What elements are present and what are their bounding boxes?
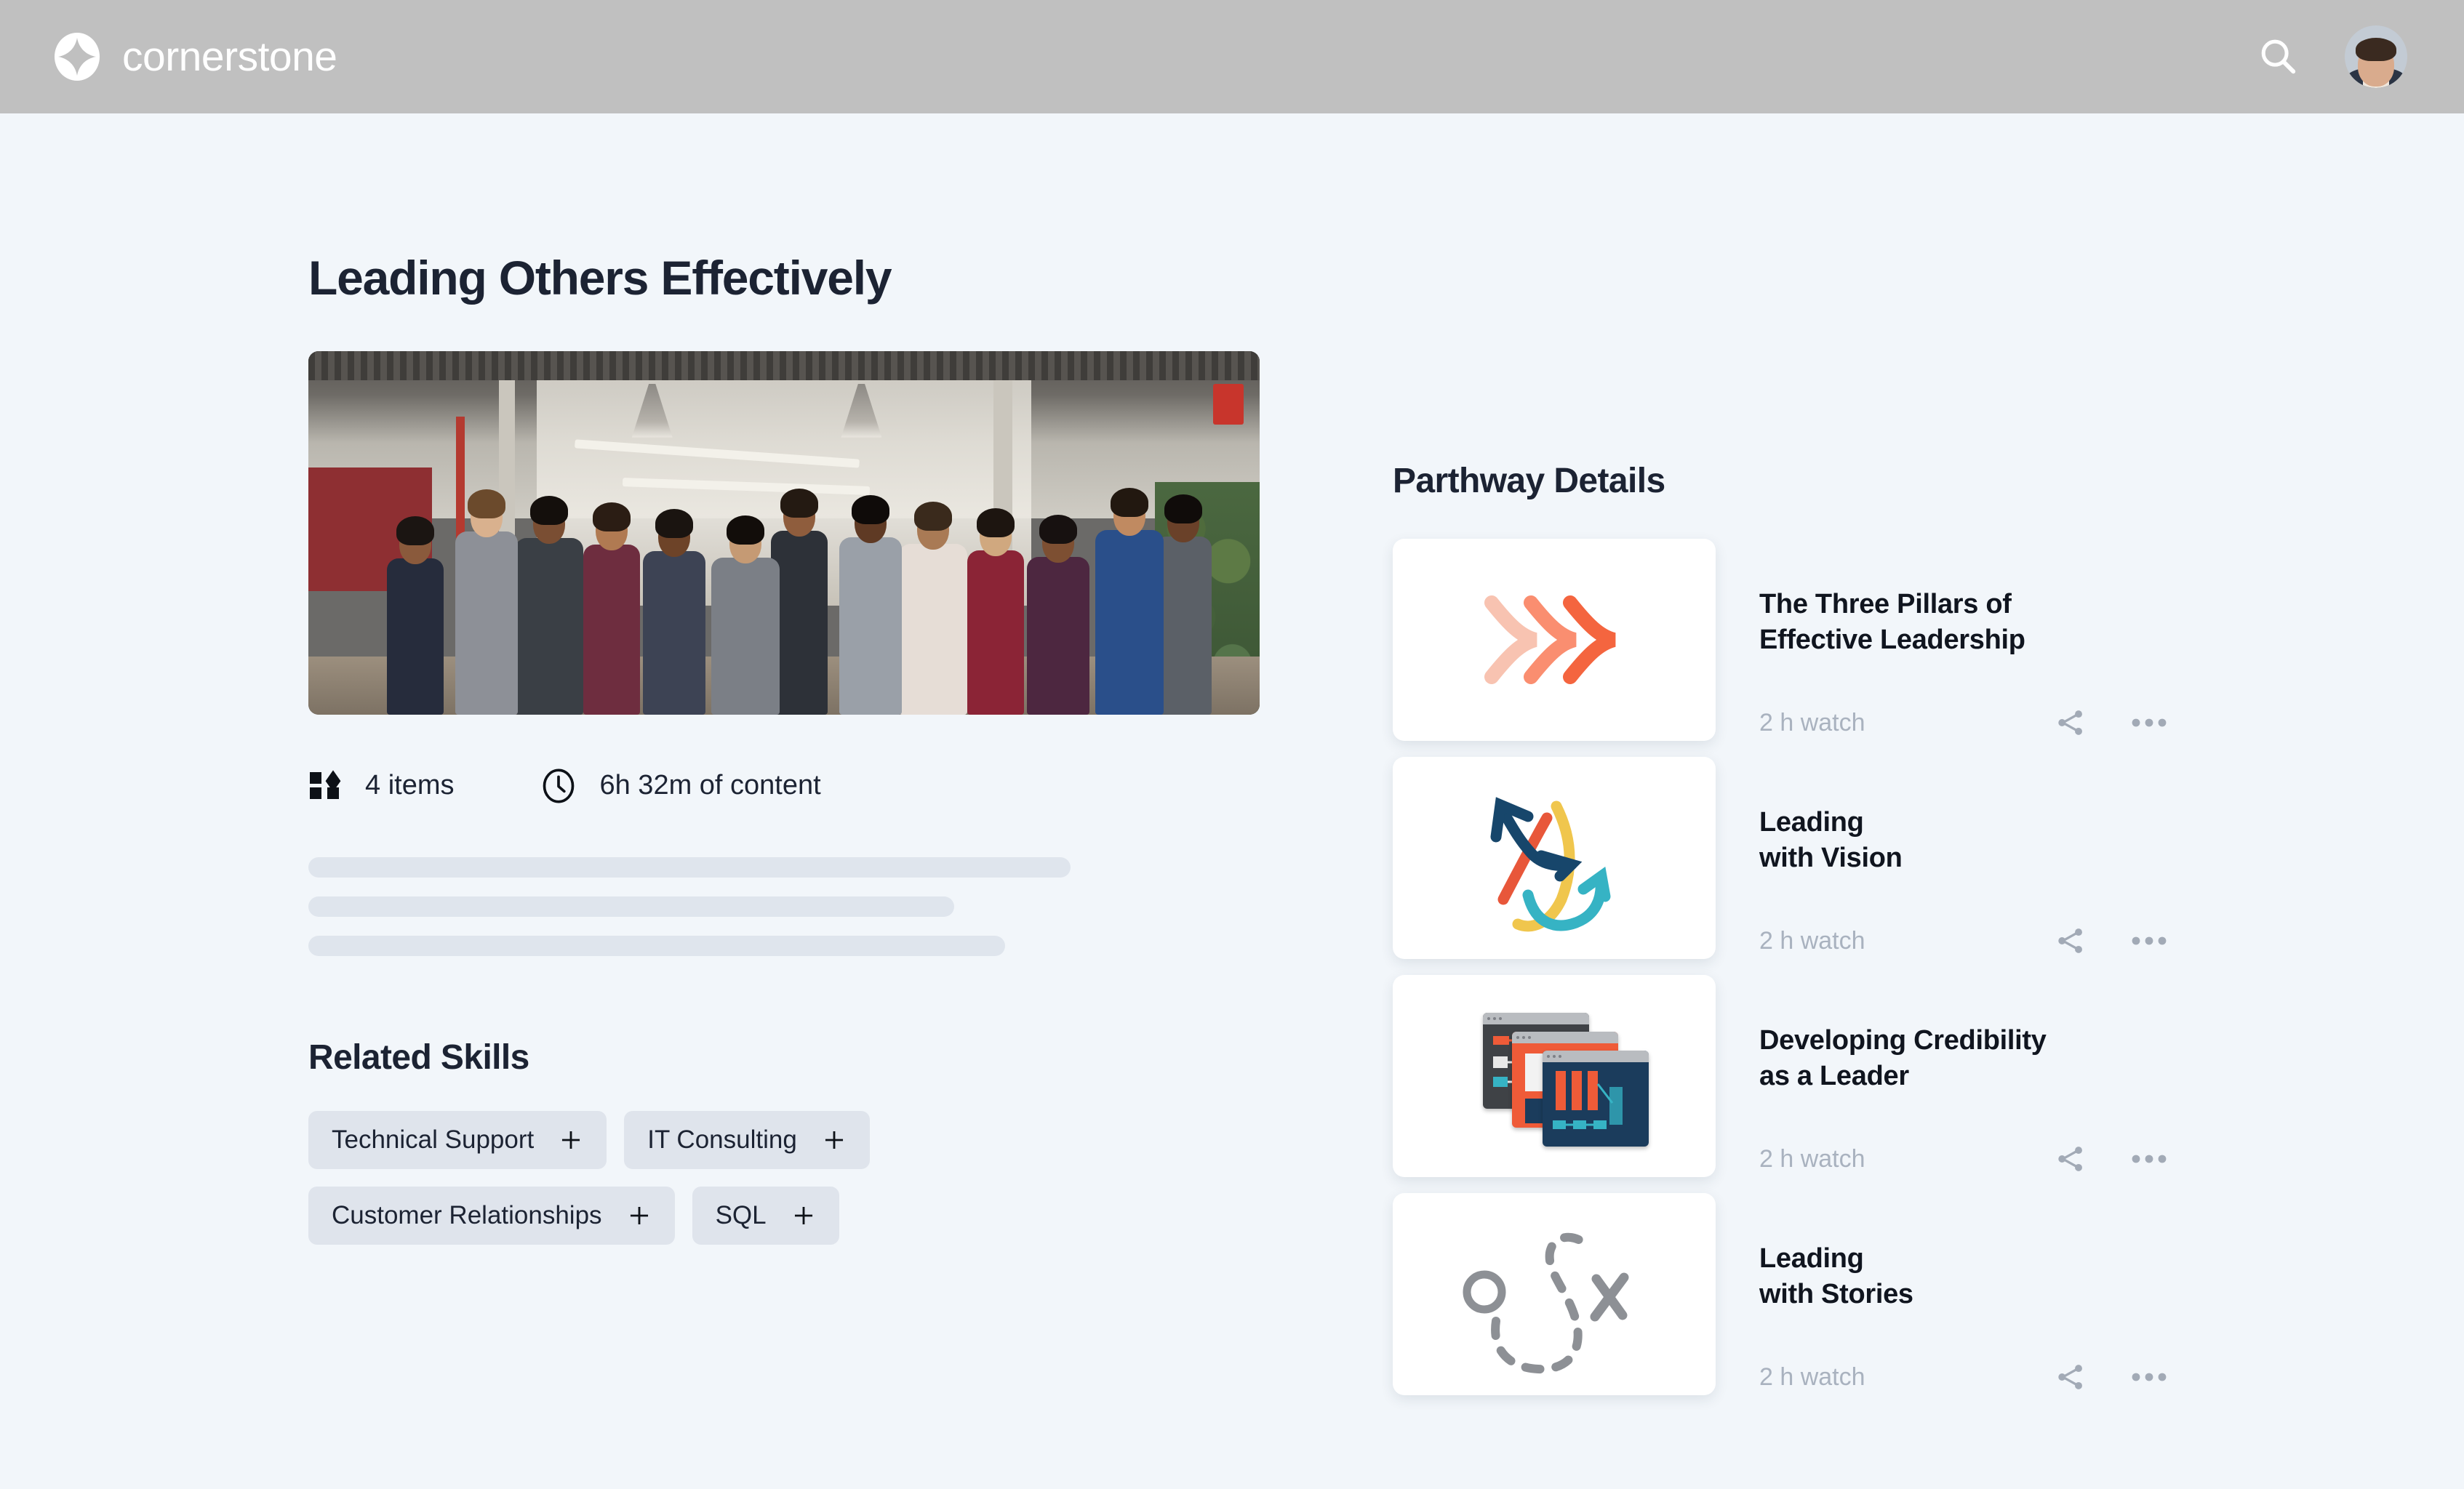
window-titlebar <box>1543 1051 1649 1062</box>
window-chart <box>1543 1062 1649 1147</box>
hero-ceiling-beam <box>308 351 1260 380</box>
pathway-item-body: Developing Credibility as a Leader 2 h w… <box>1759 975 2193 1175</box>
window-titlebar <box>1483 1013 1589 1024</box>
share-icon[interactable] <box>2055 707 2087 739</box>
interlocking-arrows-icon <box>1393 757 1716 959</box>
pathway-item-actions <box>2055 707 2167 739</box>
items-meta: 4 items <box>308 768 454 803</box>
pathway-item: The Three Pillars of Effective Leadershi… <box>1393 539 2193 741</box>
hero-person-hair <box>530 496 568 525</box>
hero-person-hair <box>593 502 631 531</box>
pathway-item-footer: 2 h watch <box>1759 1143 2167 1175</box>
plus-icon[interactable] <box>627 1203 652 1228</box>
hero-person-hair <box>1111 488 1148 517</box>
hero-person-hair <box>852 495 889 524</box>
items-count-label: 4 items <box>365 770 454 801</box>
pathway-item-actions <box>2055 1361 2167 1393</box>
hero-person-hair <box>780 489 818 518</box>
skeleton-bar <box>308 936 1005 956</box>
hero-person-hair <box>914 502 952 531</box>
pathway-item-body: Leading with Stories 2 h watch <box>1759 1193 2193 1393</box>
page-title: Leading Others Effectively <box>308 252 1268 305</box>
avatar[interactable] <box>2345 25 2407 88</box>
skill-chip-label: Customer Relationships <box>332 1201 602 1230</box>
left-column: Leading Others Effectively <box>308 113 1268 1245</box>
pathway-item-body: Leading with Vision 2 h watch <box>1759 757 2193 957</box>
window-front <box>1543 1051 1649 1147</box>
skill-chip-label: Technical Support <box>332 1125 534 1155</box>
hero-person-hair <box>1164 494 1202 523</box>
share-icon[interactable] <box>2055 1143 2087 1175</box>
plus-icon[interactable] <box>822 1128 847 1152</box>
skeleton-bar <box>308 857 1071 878</box>
share-icon[interactable] <box>2055 925 2087 957</box>
hero-person <box>387 558 444 715</box>
cornerstone-star-logo-icon <box>52 32 102 81</box>
hero-person-hair <box>655 509 693 538</box>
hero-person-hair <box>468 489 505 518</box>
pathway-item-list: The Three Pillars of Effective Leadershi… <box>1393 539 2193 1395</box>
hero-person <box>643 551 705 715</box>
hero-person <box>455 531 518 715</box>
hero-person-hair <box>977 508 1015 537</box>
skill-chip-label: IT Consulting <box>647 1125 797 1155</box>
more-options-icon[interactable] <box>2132 717 2167 729</box>
pathway-item-title: Leading with Stories <box>1759 1241 2193 1312</box>
pathway-details-title: Parthway Details <box>1393 461 2193 501</box>
duration-label: 6h 32m of content <box>599 770 820 801</box>
more-options-icon[interactable] <box>2132 935 2167 947</box>
skill-chip-sql[interactable]: SQL <box>692 1187 839 1245</box>
pathway-thumbnail[interactable] <box>1393 757 1716 959</box>
hero-person <box>839 537 902 715</box>
pathway-item: Leading with Stories 2 h watch <box>1393 1193 2193 1395</box>
share-icon[interactable] <box>2055 1361 2087 1393</box>
pathway-item-actions <box>2055 925 2167 957</box>
hero-people-group <box>308 467 1260 715</box>
hero-person <box>899 544 967 715</box>
skill-chip-customer-relationships[interactable]: Customer Relationships <box>308 1187 675 1245</box>
related-skills-title: Related Skills <box>308 1038 1268 1077</box>
three-coral-chevrons-icon <box>1393 539 1716 741</box>
pathway-item-footer: 2 h watch <box>1759 925 2167 957</box>
window-titlebar <box>1512 1032 1618 1043</box>
pathway-item-footer: 2 h watch <box>1759 707 2167 739</box>
skill-chip-technical-support[interactable]: Technical Support <box>308 1111 607 1169</box>
app-header: cornerstone <box>0 0 2464 113</box>
duration-meta: 6h 32m of content <box>540 767 820 805</box>
hero-person <box>1095 530 1164 715</box>
pathway-item-title: The Three Pillars of Effective Leadershi… <box>1759 587 2193 657</box>
brand-name: cornerstone <box>122 36 337 78</box>
dashed-path-o-to-x-icon <box>1393 1193 1716 1395</box>
header-actions <box>2257 25 2407 88</box>
right-column: Parthway Details The Three Pillars of Ef… <box>1393 113 2193 1395</box>
pathway-item-duration: 2 h watch <box>1759 1145 1865 1173</box>
hero-exit-sign <box>1213 384 1244 425</box>
hero-person-hair <box>727 515 764 545</box>
pathway-item-actions <box>2055 1143 2167 1175</box>
hero-person <box>711 558 780 715</box>
grid-items-icon <box>308 768 343 803</box>
skill-chip-list: Technical Support IT Consulting Customer… <box>308 1111 963 1245</box>
page-content: Leading Others Effectively <box>0 113 2464 1489</box>
pathway-thumbnail[interactable] <box>1393 975 1716 1177</box>
hero-person <box>583 545 640 715</box>
pathway-item-title: Developing Credibility as a Leader <box>1759 1023 2193 1093</box>
skill-chip-label: SQL <box>716 1201 767 1230</box>
stacked-dashboard-windows-icon <box>1393 975 1716 1177</box>
pathway-item-duration: 2 h watch <box>1759 927 1865 955</box>
plus-icon[interactable] <box>791 1203 816 1228</box>
pathway-item-duration: 2 h watch <box>1759 709 1865 737</box>
pathway-thumbnail[interactable] <box>1393 1193 1716 1395</box>
skeleton-bar <box>308 896 954 917</box>
avatar-hair <box>2356 38 2396 61</box>
pathway-item-footer: 2 h watch <box>1759 1361 2167 1393</box>
clock-icon <box>540 767 577 805</box>
pathway-item: Developing Credibility as a Leader 2 h w… <box>1393 975 2193 1177</box>
more-options-icon[interactable] <box>2132 1153 2167 1165</box>
hero-person <box>1027 557 1089 715</box>
content-meta: 4 items 6h 32m of content <box>308 767 1268 805</box>
more-options-icon[interactable] <box>2132 1371 2167 1383</box>
pathway-thumbnail[interactable] <box>1393 539 1716 741</box>
hero-person <box>515 538 583 715</box>
brand-logo[interactable]: cornerstone <box>52 32 337 81</box>
hero-person-hair <box>1039 515 1077 544</box>
skill-chip-it-consulting[interactable]: IT Consulting <box>624 1111 870 1169</box>
pathway-item: Leading with Vision 2 h watch <box>1393 757 2193 959</box>
plus-icon[interactable] <box>559 1128 583 1152</box>
description-skeleton <box>308 857 1268 956</box>
hero-image <box>308 351 1260 715</box>
pathway-item-duration: 2 h watch <box>1759 1363 1865 1392</box>
pathway-item-title: Leading with Vision <box>1759 805 2193 875</box>
hero-person-hair <box>396 516 434 545</box>
hero-person <box>967 550 1024 715</box>
pathway-item-body: The Three Pillars of Effective Leadershi… <box>1759 539 2193 739</box>
search-icon[interactable] <box>2257 36 2300 78</box>
